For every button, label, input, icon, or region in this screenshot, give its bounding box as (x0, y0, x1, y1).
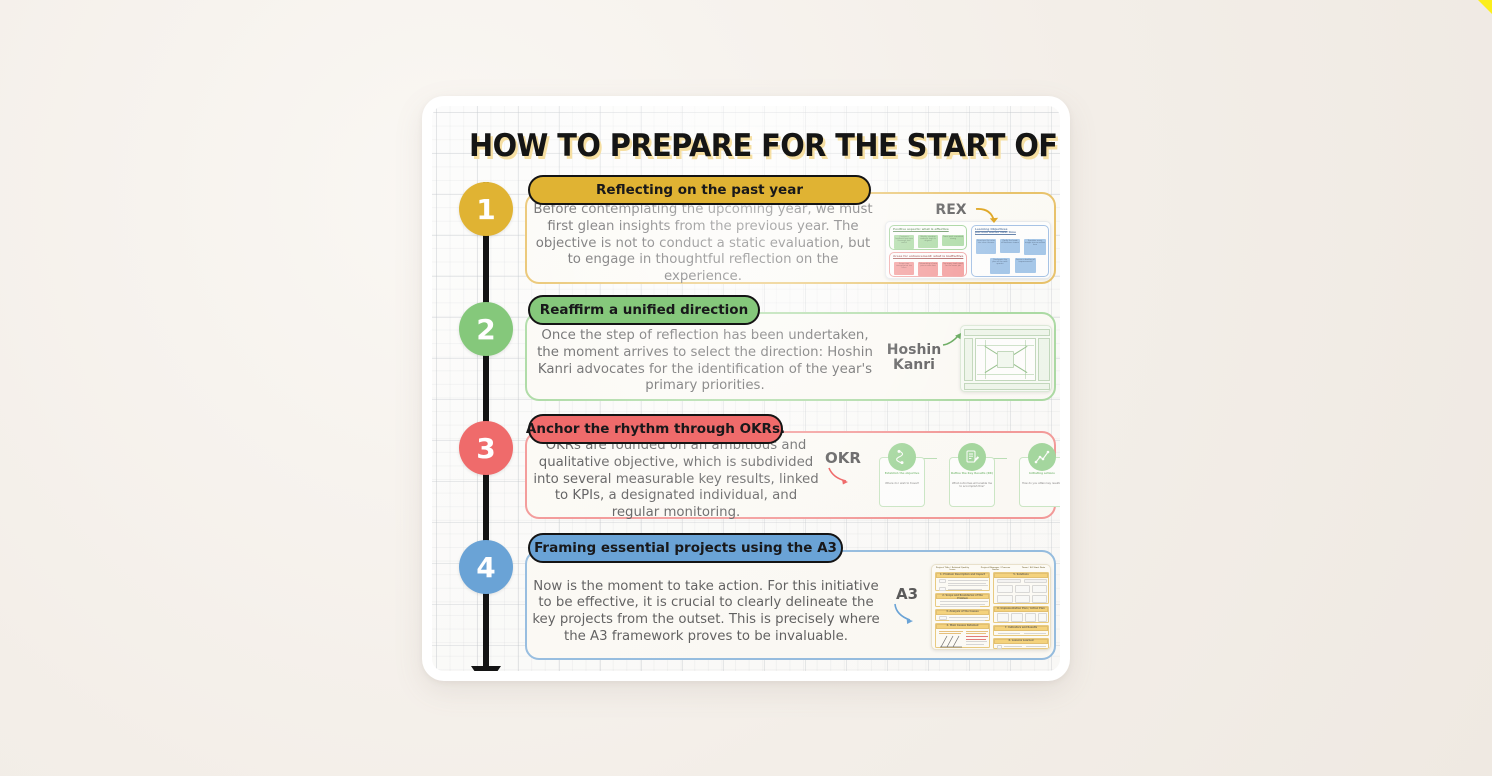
step-number-4: 4 (476, 551, 495, 584)
step-body-4: Now is the moment to take action. For th… (527, 579, 885, 646)
a3-top-field: Project Manager / Process Owner (977, 567, 1014, 571)
notepad-pencil-icon (958, 443, 986, 471)
a3-section: 8. Lessons Learned (993, 638, 1049, 649)
a3-section-header: 8. Lessons Learned (994, 639, 1048, 644)
a3-section: 5. Solutions (993, 572, 1049, 604)
thumbnail-a3: Project Title / Related Quality Issue Pr… (931, 564, 1051, 650)
page-title: HOW TO PREPARE FOR THE START OF THE YEAR… (469, 128, 1027, 164)
corner-accent-triangle-icon (1478, 0, 1492, 14)
okr-card-subtitle: Where do I wish to travel? (881, 483, 923, 486)
okr-card-title: Define the Key Results (KR) (951, 472, 993, 475)
thumb-label-rex: REX (927, 203, 975, 218)
step-number-badge-3: 3 (459, 421, 513, 475)
step-body-2: Once the step of reflection has been und… (531, 328, 879, 395)
okr-card-title: Initiating actions (1021, 472, 1060, 475)
rex-pointer-arrow-icon (975, 206, 1001, 228)
a3-section-header: 2. Scope and Boundaries of the Problem (936, 594, 989, 599)
a3-section: 6. Implementation Plan / Action Plan (993, 606, 1049, 623)
a3-section-header: 3. Analysis of the Causes (936, 610, 989, 615)
step-number-2: 2 (476, 313, 495, 346)
rex-negative-box: Areas for enhancement: what is ineffecti… (889, 252, 967, 277)
rex-note: Structure the retro into clear themes (976, 239, 996, 254)
a3-section: 1. Problem Description and Impact (935, 572, 990, 591)
step-heading-1: Reflecting on the past year (596, 182, 803, 198)
infographic-page: HOW TO PREPARE FOR THE START OF THE YEAR… (0, 0, 1492, 776)
step-number-badge-2: 2 (459, 302, 513, 356)
a3-section-header: 5. Solutions (994, 573, 1048, 578)
step-number-badge-4: 4 (459, 540, 513, 594)
step-body-1: Before contemplating the upcoming year, … (527, 202, 879, 286)
rex-note: Translate every insight into an action i… (1024, 239, 1046, 255)
step-heading-3: Anchor the rhythm through OKRs. (526, 421, 785, 437)
step-panel-4: Framing essential projects using the A3 … (525, 550, 1056, 660)
rex-note: Customer feedback loop was thorough and … (894, 235, 914, 249)
okr-pointer-arrow-icon (827, 466, 851, 486)
a3-top-field: Team / A3 Start Date (1018, 567, 1049, 571)
a3-section-header: 6. Implementation Plan / Action Plan (994, 607, 1048, 612)
rex-note: Checkpoint the plan at the mid-quarter (990, 258, 1010, 274)
step-number-3: 3 (476, 432, 495, 465)
a3-top-field: Project Title / Related Quality Issue (934, 567, 971, 571)
rex-note: Too many tools used for the same job (942, 262, 964, 276)
step-number-badge-1: 1 (459, 182, 513, 236)
thumb-label-hoshin-kanri: Hoshin Kanri (885, 343, 943, 373)
winding-path-icon (888, 443, 916, 471)
okr-card-subtitle: How do you attain key results? (1021, 483, 1060, 486)
step-heading-pill-2[interactable]: Reaffirm a unified direction (528, 295, 760, 325)
rex-learning-box: Learning Objectives perform better next … (971, 225, 1049, 277)
rising-chart-icon (1028, 443, 1056, 471)
a3-section-header: 1. Problem Description and Impact (936, 573, 989, 578)
infographic-card: HOW TO PREPARE FOR THE START OF THE YEAR… (422, 96, 1070, 681)
step-heading-pill-1[interactable]: Reflecting on the past year (528, 175, 871, 205)
rex-note: Onboarding of new joiners was slow (918, 262, 938, 276)
a3-section: 3. Analysis of the Causes (935, 609, 990, 621)
a3-section: 7. Indicators and Results (993, 625, 1049, 636)
rex-note: Weekly standup cadence kept us aligned (918, 235, 938, 248)
a3-section-header: 7. Indicators and Results (994, 626, 1048, 631)
rex-positive-box: Positive aspects: what is effective Cust… (889, 225, 967, 250)
step-heading-4: Framing essential projects using the A3 (534, 540, 837, 556)
rex-note: Secure a backlog of improvements (1015, 258, 1036, 273)
okr-card-subtitle: What outcomes will enable me to accompli… (951, 483, 993, 489)
thumb-label-a3: A3 (889, 586, 925, 602)
rex-negative-caption: Areas for enhancement: what is ineffecti… (890, 253, 966, 258)
a3-section-header: 4. Main Causes Retained (936, 624, 989, 629)
thumbnail-hoshin-kanri (960, 325, 1052, 392)
step-body-3: OKRs are founded on an ambitious and qua… (531, 438, 821, 522)
step-number-1: 1 (476, 193, 495, 226)
rex-note: Scope was renegotiated too often (894, 262, 914, 275)
thumbnail-okr: Establish the objective Where do I wish … (867, 443, 1053, 511)
a3-pointer-arrow-icon (893, 602, 919, 626)
step-panel-1: Reflecting on the past year Before conte… (525, 192, 1056, 284)
step-heading-pill-3[interactable]: Anchor the rhythm through OKRs. (528, 414, 783, 444)
rex-positive-caption: Positive aspects: what is effective (890, 226, 966, 231)
grid-paper-surface: HOW TO PREPARE FOR THE START OF THE YEAR… (432, 106, 1060, 671)
step-heading-pill-4[interactable]: Framing essential projects using the A3 (528, 533, 843, 563)
thumbnail-rex: Positive aspects: what is effective Cust… (885, 221, 1051, 279)
rex-note: Clarify the hand-off between teams (1000, 239, 1020, 253)
hoshin-pointer-arrow-icon (941, 330, 963, 348)
step-panel-3: Anchor the rhythm through OKRs. OKRs are… (525, 431, 1056, 519)
step-panel-2: Reaffirm a unified direction Once the st… (525, 312, 1056, 401)
step-heading-2: Reaffirm a unified direction (540, 302, 748, 318)
rex-note: Team spirit remained strong (942, 235, 964, 246)
okr-card-title: Establish the objective (881, 472, 923, 475)
thumb-label-okr: OKR (820, 450, 866, 466)
a3-section: 4. Main Causes Retained (935, 623, 990, 648)
a3-section: 2. Scope and Boundaries of the Problem (935, 593, 990, 607)
timeline-arrow-icon (471, 666, 501, 671)
